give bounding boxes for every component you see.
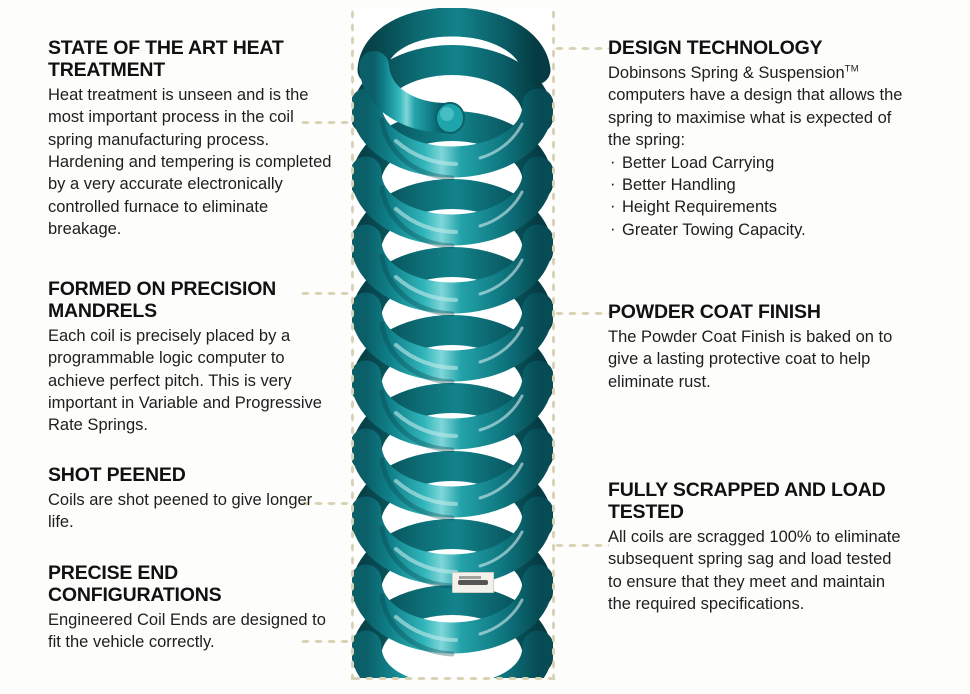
feature-heading-fully-scrapped-load-tested: FULLY SCRAPPED AND LOAD TESTED xyxy=(608,480,908,524)
feature-fully-scrapped-load-tested: FULLY SCRAPPED AND LOAD TESTED All coils… xyxy=(608,480,908,615)
feature-powder-coat-finish: POWDER COAT FINISH The Powder Coat Finis… xyxy=(608,302,908,393)
design-body-post: computers have a design that allows the … xyxy=(608,86,902,149)
dotted-frame-left xyxy=(350,8,355,680)
trademark-symbol: TM xyxy=(845,63,859,74)
design-technology-benefits-list: Better Load Carrying Better Handling Hei… xyxy=(608,152,908,242)
feature-body-fully-scrapped-load-tested: All coils are scragged 100% to eliminate… xyxy=(608,526,908,616)
dotted-connector-load-tested xyxy=(553,543,609,548)
feature-body-design-technology: Dobinsons Spring & SuspensionTM computer… xyxy=(608,62,908,152)
feature-heading-precise-end-configurations: PRECISE END CONFIGURATIONS xyxy=(48,563,338,607)
sticker-text-line xyxy=(459,576,481,579)
feature-body-shot-peened: Coils are shot peened to give longer lif… xyxy=(48,489,338,534)
feature-heat-treatment: STATE OF THE ART HEAT TREATMENT Heat tre… xyxy=(48,38,338,241)
barcode-sticker xyxy=(452,572,494,593)
list-item: Height Requirements xyxy=(608,196,908,218)
feature-heading-shot-peened: SHOT PEENED xyxy=(48,465,338,487)
list-item: Better Load Carrying xyxy=(608,152,908,174)
sticker-barcode xyxy=(458,580,488,585)
feature-body-powder-coat-finish: The Powder Coat Finish is baked on to gi… xyxy=(608,326,908,393)
feature-precise-end-configurations: PRECISE END CONFIGURATIONS Engineered Co… xyxy=(48,563,338,654)
feature-body-precise-end-configurations: Engineered Coil Ends are designed to fit… xyxy=(48,609,338,654)
feature-design-technology: DESIGN TECHNOLOGY Dobinsons Spring & Sus… xyxy=(608,38,908,241)
feature-body-heat-treatment: Heat treatment is unseen and is the most… xyxy=(48,84,338,241)
dotted-connector-powder-coat xyxy=(553,311,609,316)
design-body-pre: Dobinsons Spring & Suspension xyxy=(608,64,845,82)
feature-precision-mandrels: FORMED ON PRECISION MANDRELS Each coil i… xyxy=(48,279,338,437)
feature-body-precision-mandrels: Each coil is precisely placed by a progr… xyxy=(48,325,338,437)
dotted-frame-right xyxy=(551,8,556,680)
infographic-page: STATE OF THE ART HEAT TREATMENT Heat tre… xyxy=(0,0,970,694)
list-item: Better Handling xyxy=(608,174,908,196)
feature-heading-precision-mandrels: FORMED ON PRECISION MANDRELS xyxy=(48,279,338,323)
feature-heading-design-technology: DESIGN TECHNOLOGY xyxy=(608,38,908,60)
dotted-connector-design-technology xyxy=(553,46,609,51)
feature-shot-peened: SHOT PEENED Coils are shot peened to giv… xyxy=(48,465,338,534)
feature-heading-heat-treatment: STATE OF THE ART HEAT TREATMENT xyxy=(48,38,338,82)
feature-heading-powder-coat-finish: POWDER COAT FINISH xyxy=(608,302,908,324)
dotted-frame-bottom xyxy=(350,676,556,681)
list-item: Greater Towing Capacity. xyxy=(608,219,908,241)
